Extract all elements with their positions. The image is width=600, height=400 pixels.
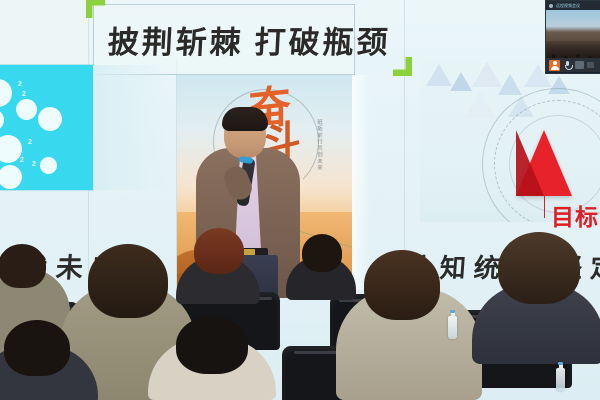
origami-triangle-icon <box>426 64 452 86</box>
conference-photo: 披荆斩棘 打破瓶颈 2 2 2 2 2 奋 斗 砥砺前行共创未来 <box>0 0 600 400</box>
bulb-icon <box>0 109 4 131</box>
person-icon <box>0 165 22 189</box>
more-options-icon[interactable] <box>587 62 594 68</box>
remote-meeting-window[interactable]: 远程视频会议 <box>545 0 600 74</box>
goal-red-text: 目标 <box>551 198 599 232</box>
origami-triangle-icon <box>498 74 522 95</box>
book-icon <box>16 99 37 120</box>
compass-needle <box>544 196 546 218</box>
microphone-icon[interactable] <box>563 60 572 71</box>
share-screen-icon[interactable] <box>575 61 584 69</box>
poster-vertical-text: 砥砺前行共创未来 <box>314 119 324 171</box>
screen-panel-divider-left <box>0 0 88 64</box>
presenter-hair <box>222 107 268 131</box>
gear-icon <box>0 79 12 107</box>
camera-icon <box>549 4 553 8</box>
participants-icon[interactable] <box>549 60 560 71</box>
origami-triangle-icon <box>450 72 472 91</box>
water-bottle <box>556 368 565 391</box>
globe-icon <box>0 135 22 163</box>
meeting-toolbar[interactable] <box>546 58 600 72</box>
meeting-window-header: 远程视频会议 <box>546 1 600 10</box>
origami-triangle-icon <box>464 92 496 118</box>
panel-glow <box>93 65 168 190</box>
meeting-video-feed <box>546 10 600 58</box>
meeting-window-title: 远程视频会议 <box>556 3 580 9</box>
slide-title: 披荆斩棘 打破瓶颈 <box>107 17 399 62</box>
remote-audience <box>546 41 600 58</box>
red-pyramid-shadow-face <box>516 130 544 196</box>
water-bottle <box>448 316 457 339</box>
rocket-icon <box>40 157 57 174</box>
audience <box>0 250 600 400</box>
icon-bubbles-panel: 2 2 2 2 2 <box>0 65 93 190</box>
flask-icon <box>38 107 62 131</box>
